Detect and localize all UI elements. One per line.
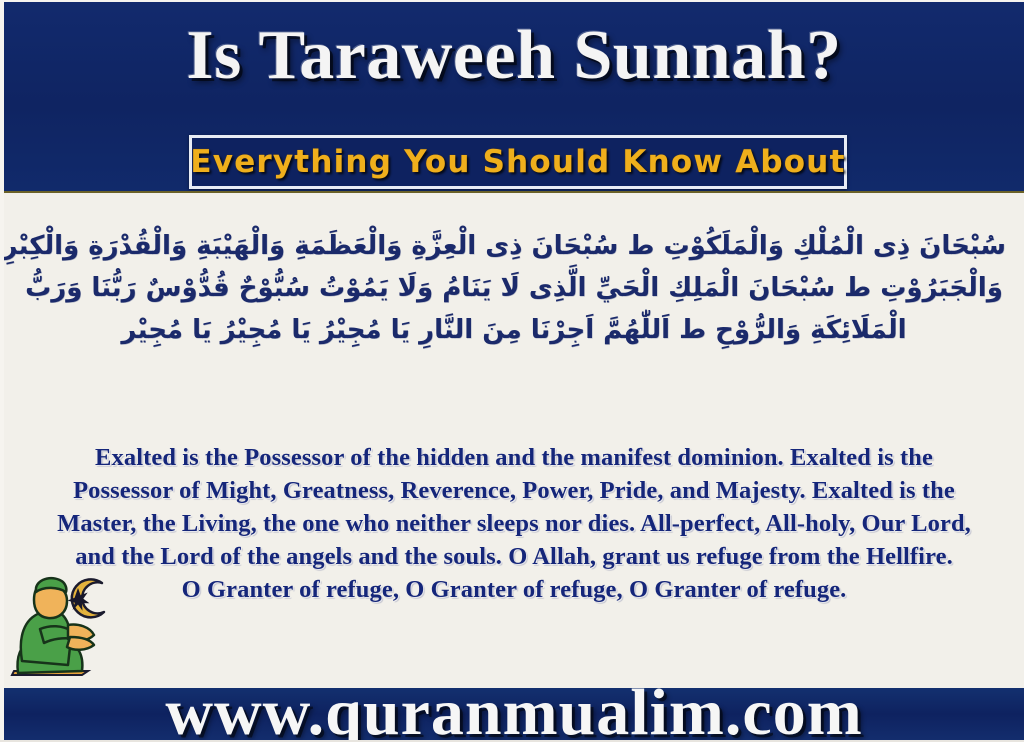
content-area: سُبْحَانَ ذِى الْمُلْكِ وَالْمَلَكُوْتِ … bbox=[4, 193, 1024, 740]
subtitle-text: Everything You Should Know About bbox=[190, 144, 845, 180]
arabic-line: وَالْجَبَرُوْتِ ط سُبْحَانَ الْمَلِكِ ال… bbox=[22, 267, 1006, 309]
website-url[interactable]: www.quranmualim.com bbox=[4, 688, 1024, 740]
translation-line: Exalted is the Possessor of the hidden a… bbox=[36, 441, 992, 474]
top-edge-border bbox=[0, 0, 1024, 2]
praying-person-icon bbox=[10, 561, 140, 679]
poster-root: Is Taraweeh Sunnah? Everything You Shoul… bbox=[0, 0, 1024, 742]
translation-block: Exalted is the Possessor of the hidden a… bbox=[36, 441, 992, 606]
arabic-line: الْمَلَائِكَةِ وَالرُّوْحِ ط اَللّٰهُمَّ… bbox=[22, 309, 1006, 351]
translation-line: O Granter of refuge, O Granter of refuge… bbox=[36, 573, 992, 606]
subtitle-box: Everything You Should Know About bbox=[189, 135, 847, 189]
header-banner: Is Taraweeh Sunnah? Everything You Shoul… bbox=[4, 2, 1024, 193]
arabic-dua-block: سُبْحَانَ ذِى الْمُلْكِ وَالْمَلَكُوْتِ … bbox=[22, 225, 1006, 351]
translation-line: and the Lord of the angels and the souls… bbox=[36, 540, 992, 573]
left-edge-border bbox=[0, 0, 4, 742]
arabic-line: سُبْحَانَ ذِى الْمُلْكِ وَالْمَلَكُوْتِ … bbox=[22, 225, 1006, 267]
translation-line: Possessor of Might, Greatness, Reverence… bbox=[36, 474, 992, 507]
page-title: Is Taraweeh Sunnah? bbox=[4, 16, 1024, 96]
translation-line: Master, the Living, the one who neither … bbox=[36, 507, 992, 540]
footer-bar: www.quranmualim.com bbox=[4, 688, 1024, 740]
